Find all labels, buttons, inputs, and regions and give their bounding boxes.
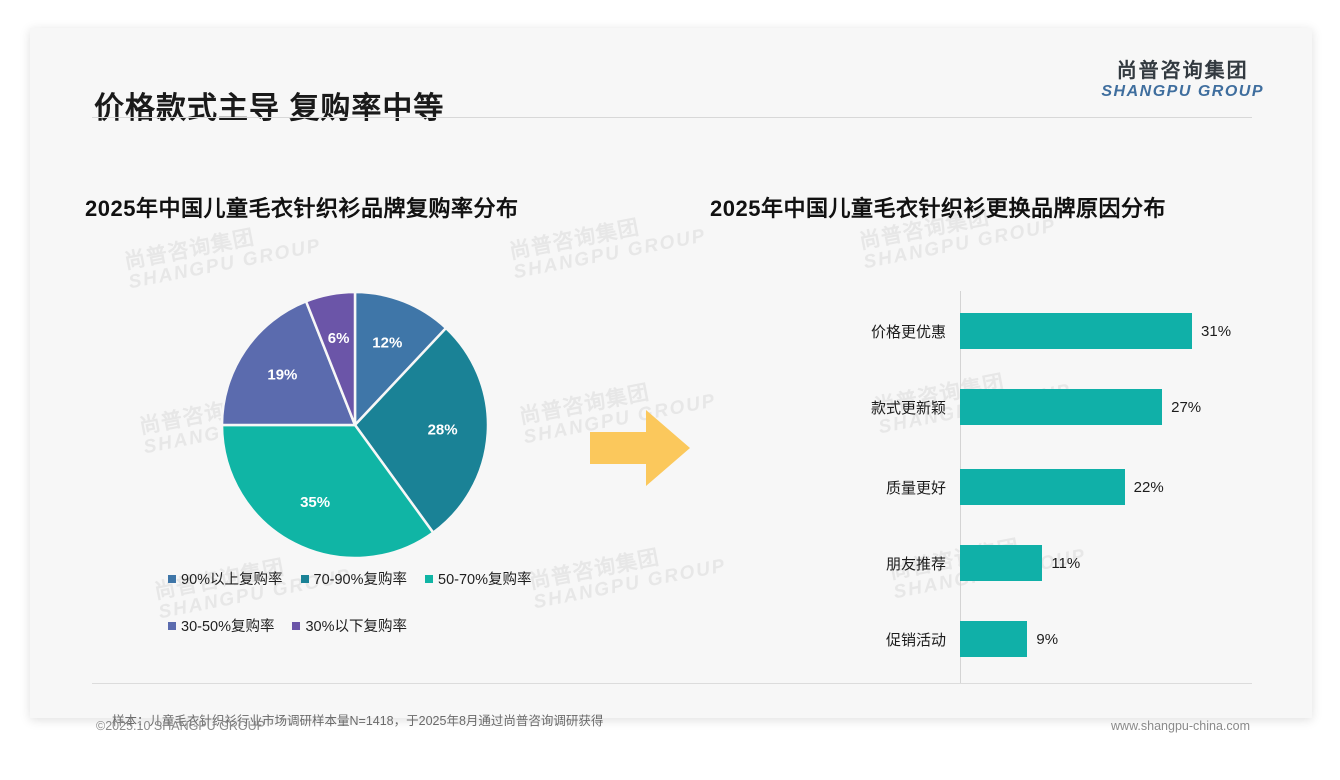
pie-legend-item[interactable]: 50-70%复购率	[425, 568, 531, 589]
legend-swatch-icon	[168, 622, 176, 630]
pie-slice-label: 35%	[300, 494, 330, 511]
legend-swatch-icon	[425, 575, 433, 583]
pie-svg: 12%28%35%19%6%	[220, 290, 490, 560]
bar-track: 31%	[960, 313, 1290, 349]
pie-legend-label: 30%以下复购率	[305, 615, 407, 636]
bar-chart-row[interactable]: 款式更新颖27%	[730, 389, 1290, 425]
watermark-cn: 尚普咨询集团	[123, 215, 320, 274]
footer-website[interactable]: www.shangpu-china.com	[1111, 719, 1250, 733]
pie-legend-item[interactable]: 30%以下复购率	[292, 615, 407, 636]
pie-legend-item[interactable]: 90%以上复购率	[168, 568, 283, 589]
bar-fill[interactable]	[960, 621, 1027, 657]
pie-slice-label: 12%	[372, 334, 402, 351]
footer-copyright: ©2025.10 SHANGPU GROUP	[96, 719, 265, 733]
right-arrow-icon	[590, 410, 690, 491]
bar-fill[interactable]	[960, 545, 1042, 581]
left-chart-title: 2025年中国儿童毛衣针织衫品牌复购率分布	[85, 191, 518, 223]
pie-slice-label: 19%	[267, 367, 297, 384]
bar-track: 9%	[960, 621, 1290, 657]
slide-card: 尚普咨询集团SHANGPU GROUP 尚普咨询集团SHANGPU GROUP …	[30, 28, 1312, 718]
pie-legend-label: 90%以上复购率	[181, 568, 283, 589]
bar-category-label: 促销活动	[730, 629, 960, 650]
right-arrow-svg	[590, 410, 690, 486]
legend-swatch-icon	[168, 575, 176, 583]
pie-legend-row-2: 30-50%复购率30%以下复购率	[168, 615, 598, 636]
bar-chart-row[interactable]: 朋友推荐11%	[730, 545, 1290, 581]
watermark-en: SHANGPU GROUP	[127, 236, 323, 293]
bar-chart-row[interactable]: 价格更优惠31%	[730, 313, 1290, 349]
page-title: 价格款式主导 复购率中等	[94, 83, 444, 127]
bar-value-label: 9%	[1036, 631, 1058, 648]
bar-track: 11%	[960, 545, 1290, 581]
watermark-en: SHANGPU GROUP	[862, 216, 1058, 273]
legend-swatch-icon	[292, 622, 300, 630]
bar-track: 27%	[960, 389, 1290, 425]
brand-logo: 尚普咨询集团 SHANGPU GROUP	[1101, 60, 1264, 101]
bar-fill[interactable]	[960, 313, 1192, 349]
pie-legend-row-1: 90%以上复购率70-90%复购率50-70%复购率	[168, 568, 598, 589]
repurchase-rate-pie-chart: 12%28%35%19%6%	[220, 290, 490, 560]
watermark-en: SHANGPU GROUP	[512, 226, 708, 283]
pie-slice-label: 6%	[328, 330, 350, 347]
slide-header: 价格款式主导 复购率中等 尚普咨询集团 SHANGPU GROUP	[30, 28, 1312, 118]
bar-fill[interactable]	[960, 469, 1125, 505]
pie-legend-item[interactable]: 70-90%复购率	[301, 568, 407, 589]
bar-category-label: 价格更优惠	[730, 321, 960, 342]
bar-value-label: 22%	[1134, 479, 1164, 496]
bar-chart-row[interactable]: 促销活动9%	[730, 621, 1290, 657]
brand-logo-cn: 尚普咨询集团	[1101, 60, 1264, 83]
pie-legend: 90%以上复购率70-90%复购率50-70%复购率 30-50%复购率30%以…	[168, 568, 598, 662]
bar-category-label: 款式更新颖	[730, 397, 960, 418]
bar-category-label: 朋友推荐	[730, 553, 960, 574]
slide-root: 尚普咨询集团SHANGPU GROUP 尚普咨询集团SHANGPU GROUP …	[0, 0, 1340, 780]
pie-legend-label: 30-50%复购率	[181, 615, 274, 636]
watermark-cn: 尚普咨询集团	[508, 205, 705, 264]
pie-legend-label: 70-90%复购率	[314, 568, 407, 589]
pie-slice-label: 28%	[428, 421, 458, 438]
pie-legend-item[interactable]: 30-50%复购率	[168, 615, 274, 636]
bar-value-label: 27%	[1171, 399, 1201, 416]
brand-switch-reason-bar-chart: 价格更优惠31%款式更新颖27%质量更好22%朋友推荐11%促销活动9%	[730, 283, 1290, 683]
footnote-divider	[92, 683, 1252, 684]
bar-category-label: 质量更好	[730, 477, 960, 498]
pie-legend-label: 50-70%复购率	[438, 568, 531, 589]
header-divider	[92, 117, 1252, 118]
bar-value-label: 31%	[1201, 323, 1231, 340]
right-chart-title: 2025年中国儿童毛衣针织衫更换品牌原因分布	[710, 191, 1166, 223]
brand-logo-en: SHANGPU GROUP	[1101, 83, 1264, 101]
legend-swatch-icon	[301, 575, 309, 583]
bar-fill[interactable]	[960, 389, 1162, 425]
bar-value-label: 11%	[1051, 555, 1080, 572]
bar-track: 22%	[960, 469, 1290, 505]
bar-chart-row[interactable]: 质量更好22%	[730, 469, 1290, 505]
